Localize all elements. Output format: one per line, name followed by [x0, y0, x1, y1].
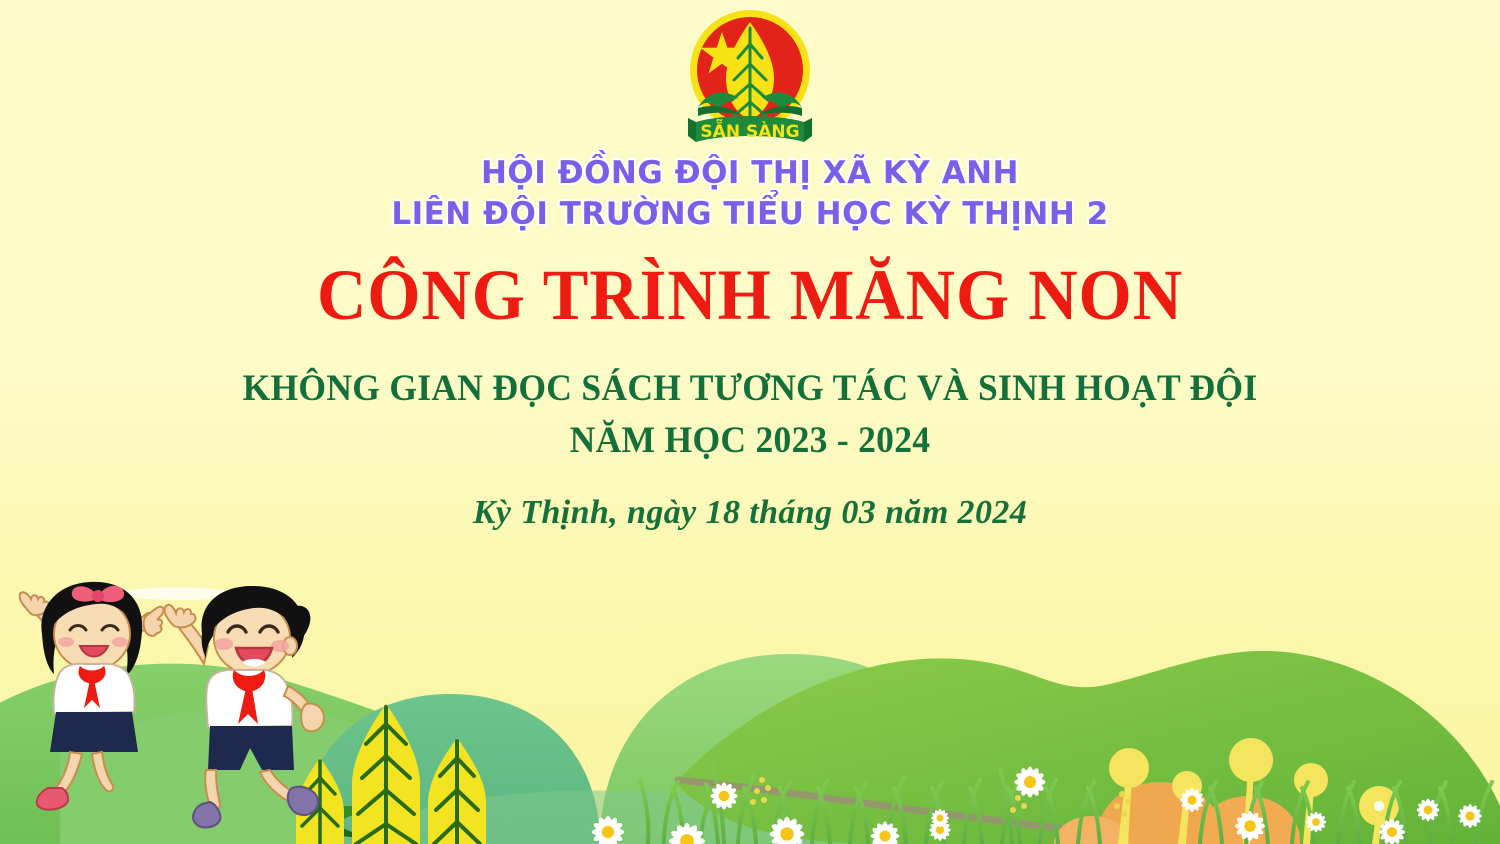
children-illustration: [4, 572, 334, 842]
subtitle-line-2: NĂM HỌC 2023 - 2024: [30, 416, 1470, 466]
page-title: CÔNG TRÌNH MĂNG NON: [38, 258, 1463, 334]
poster-canvas: SẴN SÀNG HỘI ĐỒNG ĐỘI THỊ XÃ KỲ ANH LIÊN…: [0, 0, 1500, 844]
organization-line-1: HỘI ĐỒNG ĐỘI THỊ XÃ KỲ ANH: [0, 155, 1500, 192]
boy-pioneer: [164, 586, 324, 827]
date-line: Kỳ Thịnh, ngày 18 tháng 03 năm 2024: [0, 494, 1500, 532]
doi-emblem: SẴN SÀNG: [682, 6, 818, 154]
girl-pioneer: [20, 582, 164, 810]
poster-text-block: HỘI ĐỒNG ĐỘI THỊ XÃ KỲ ANH LIÊN ĐỘI TRƯỜ…: [0, 155, 1500, 532]
subtitle-line-1: KHÔNG GIAN ĐỌC SÁCH TƯƠNG TÁC VÀ SINH HO…: [30, 364, 1470, 414]
organization-line-2: LIÊN ĐỘI TRƯỜNG TIỂU HỌC KỲ THỊNH 2: [0, 196, 1500, 233]
